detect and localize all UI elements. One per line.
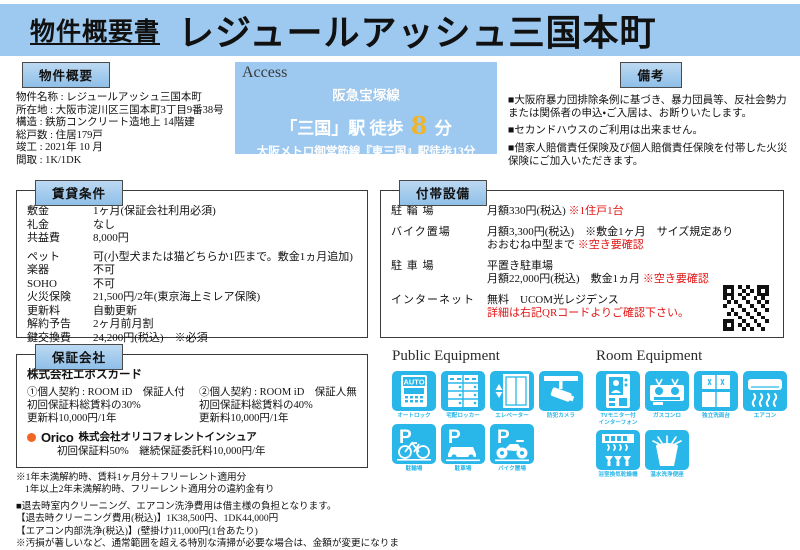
equipment-item: TVモニター付 インターフォン — [596, 371, 640, 426]
gas-stove-icon — [645, 371, 689, 411]
facility-note: ※空き要確認 — [643, 273, 709, 285]
facility-value: 月額330円(税込) ※1住戸1台 — [487, 205, 773, 219]
equipment-label: 宅配ロッカー — [441, 413, 485, 420]
header-tag: 物件概要書 — [30, 12, 160, 48]
facility-key: 駐 輪 場 — [391, 205, 487, 219]
public-equipment-section: Public Equipment AUTO — [392, 348, 588, 472]
overview-line: 構造 : 鉄筋コンクリート造地上 14階建 — [16, 117, 231, 130]
remark-item: ■大阪府暴力団排除条例に基づき、暴力団員等、反社会勢力または関係者の申込・ご入居… — [508, 94, 794, 120]
equipment-label: TVモニター付 インターフォン — [596, 413, 640, 426]
svg-text:P: P — [448, 427, 461, 448]
facility-line-2: おおむね中型まで ※空き要確認 — [487, 239, 773, 253]
facility-note: ※1住戸1台 — [569, 205, 624, 217]
rental-value: なし — [93, 219, 357, 233]
facilities-section: 付帯設備 駐 輪 場 月額330円(税込) ※1住戸1台 バイク置場 月額3,3… — [380, 190, 784, 338]
property-overview-label: 物件概要 — [22, 62, 110, 88]
rental-row: 敷金 1ヶ月(保証会社利用必須) — [27, 205, 357, 219]
page-header-banner: 物件概要書 レジュールアッシュ三国本町 — [0, 4, 800, 56]
equipment-item: P 駐車場 — [441, 424, 485, 473]
facility-line: 月額22,000円(税込) 敷金1ヵ月 — [487, 273, 640, 285]
note-line: ※汚損が著しいなど、通常範囲を超える特別な清掃が必要な場合は、金額が変更になりま… — [16, 538, 416, 550]
facility-row: バイク置場 月額3,300円(税込) ※敷金1ヶ月 サイズ規定あり おおむね中型… — [391, 226, 773, 253]
rental-value: 不可 — [93, 264, 357, 278]
equipment-item: AUTO オートロック — [392, 371, 436, 420]
equipment-item: エアコン — [743, 371, 787, 426]
plan-line: 初回保証料総賃料の40% — [199, 399, 357, 412]
plan-title: ②個人契約 : ROOM iD 保証人無 — [199, 386, 357, 399]
svg-text:AUTO: AUTO — [403, 378, 424, 387]
facilities-body: 駐 輪 場 月額330円(税込) ※1住戸1台 バイク置場 月額3,300円(税… — [381, 191, 783, 334]
remark-item: ■借家人賠償責任保険及び個人賠償責任保険を付帯した火災保険にご加入いただきます。 — [508, 142, 794, 168]
equipment-label: 温水洗浄便座 — [645, 472, 689, 479]
rental-key: 共益費 — [27, 232, 93, 246]
access-secondary-line: 大阪メトロ御堂筋線『東三国』駅徒歩13分 — [235, 143, 497, 159]
overview-line: 所在地 : 大阪市淀川区三国本町3丁目9番38号 — [16, 105, 231, 118]
remarks-lines: ■大阪府暴力団排除条例に基づき、暴力団員等、反社会勢力または関係者の申込・ご入居… — [508, 94, 794, 168]
property-overview-section: 物件概要 物件名称 : レジュールアッシュ三国本町 所在地 : 大阪市淀川区三国… — [16, 62, 231, 168]
rental-row: ペット 可(小型犬または猫どちらか1匹まで。敷金1ヵ月追加) — [27, 251, 357, 265]
facilities-label: 付帯設備 — [399, 180, 487, 206]
equipment-label: エアコン — [743, 413, 787, 420]
rental-row: SOHO 不可 — [27, 278, 357, 292]
rental-row: 楽器 不可 — [27, 264, 357, 278]
facility-line: おおむね中型まで — [487, 239, 575, 251]
rental-conditions-section: 賃貸条件 敷金 1ヶ月(保証会社利用必須) 礼金 なし 共益費 8,000円 ペ… — [16, 190, 368, 338]
equipment-item: ガスコンロ — [645, 371, 689, 426]
rental-key: 鍵交換費 — [27, 332, 93, 346]
note-line: ■退去時室内クリーニング、エアコン洗浄費用は借主様の負担となります。 — [16, 501, 416, 513]
facility-value: 平置き駐車場 月額22,000円(税込) 敷金1ヵ月 ※空き要確認 — [487, 260, 773, 287]
equipment-label: エレベーター — [490, 413, 534, 420]
room-equipment-icons: TVモニター付 インターフォン — [596, 371, 792, 479]
overview-line: 物件名称 : レジュールアッシュ三国本町 — [16, 92, 231, 105]
equipment-label: 浴室換気乾燥機 — [596, 472, 640, 479]
rental-key: SOHO — [27, 278, 93, 292]
equipment-label: 駐輪場 — [392, 466, 436, 473]
bike-parking-icon: P — [490, 424, 534, 464]
equipment-item: 温水洗浄便座 — [645, 430, 689, 479]
rental-key: 更新料 — [27, 305, 93, 319]
page-title: レジュールアッシュ三国本町 — [178, 4, 656, 56]
guarantee-company-label: 保証会社 — [35, 344, 123, 370]
note-line: 1年以上2年未満解約時、フリーレント適用分の違約金有り — [16, 484, 416, 496]
property-summary-sheet: 物件概要書 レジュールアッシュ三国本町 物件概要 物件名称 : レジュールアッシ… — [0, 0, 800, 550]
guarantee-plan: ①個人契約 : ROOM iD 保証人付 初回保証料総賃料の30% 更新料10,… — [27, 386, 185, 425]
rental-value: 1ヶ月(保証会社利用必須) — [93, 205, 357, 219]
equipment-label: オートロック — [392, 413, 436, 420]
equipment-item: エレベーター — [490, 371, 534, 420]
air-conditioner-icon — [743, 371, 787, 411]
svg-text:P: P — [497, 427, 510, 448]
facility-line: 月額330円(税込) — [487, 205, 566, 217]
room-equipment-section: Room Equipment T — [596, 348, 792, 479]
equipment-label: 防犯カメラ — [539, 413, 583, 420]
equipment-item: P 駐輪場 — [392, 424, 436, 473]
rental-value: 2ヶ月前月割 — [93, 318, 357, 332]
equipment-label: ガスコンロ — [645, 413, 689, 420]
equipment-label: 駐車場 — [441, 466, 485, 473]
qr-code[interactable] — [723, 285, 769, 331]
rental-conditions-body: 敷金 1ヶ月(保証会社利用必須) 礼金 なし 共益費 8,000円 ペット 可(… — [17, 191, 367, 351]
orico-company-name: 株式会社オリコフォレントインシュア — [78, 431, 256, 445]
facility-row: 駐 輪 場 月額330円(税込) ※1住戸1台 — [391, 205, 773, 219]
plan-line: 初回保証料総賃料の30% — [27, 399, 185, 412]
access-section: Access 阪急宝塚線 「三国」駅 徒歩 8 分 大阪メトロ御堂筋線『東三国』… — [235, 62, 497, 154]
remarks-label: 備考 — [620, 62, 681, 88]
equipment-label: バイク置場 — [490, 466, 534, 473]
equipment-label: 独立洗面台 — [694, 413, 738, 420]
facility-row: 駐 車 場 平置き駐車場 月額22,000円(税込) 敷金1ヵ月 ※空き要確認 — [391, 260, 773, 287]
facility-note: ※空き要確認 — [578, 239, 644, 251]
access-station-prefix: 「三国」駅 徒歩 — [280, 119, 403, 138]
remarks-section: 備考 ■大阪府暴力団排除条例に基づき、暴力団員等、反社会勢力または関係者の申込・… — [508, 62, 794, 172]
remark-item: ■セカンドハウスのご利用は出来ません。 — [508, 124, 794, 137]
note-line: ※1年未満解約時、賃料1ヶ月分＋フリーレント適用分 — [16, 472, 416, 484]
rental-value: 可(小型犬または猫どちらか1匹まで。敷金1ヵ月追加) — [93, 251, 357, 265]
equipment-item: 宅配ロッカー — [441, 371, 485, 420]
guarantee-plan: ②個人契約 : ROOM iD 保証人無 初回保証料総賃料の40% 更新料10,… — [199, 386, 357, 425]
rental-row: 礼金 なし — [27, 219, 357, 233]
orico-dot-icon — [27, 433, 36, 442]
rental-value: 不可 — [93, 278, 357, 292]
equipment-item: 独立洗面台 — [694, 371, 738, 426]
rental-row: 共益費 8,000円 — [27, 232, 357, 246]
room-equipment-title: Room Equipment — [596, 348, 792, 365]
public-equipment-icons: AUTO オートロック — [392, 371, 588, 472]
rental-row: 解約予告 2ヶ月前月割 — [27, 318, 357, 332]
tv-intercom-icon — [596, 371, 640, 411]
public-equipment-title: Public Equipment — [392, 348, 588, 365]
facility-row: インターネット 無料 UCOM光レジデンス 詳細は右記QRコードよりご確認下さい… — [391, 294, 773, 321]
bicycle-parking-icon: P — [392, 424, 436, 464]
guarantee-company-name: 株式会社エポスカード — [27, 369, 357, 383]
plan-title: ①個人契約 : ROOM iD 保証人付 — [27, 386, 185, 399]
facility-key: 駐 車 場 — [391, 260, 487, 287]
facility-line: 平置き駐車場 — [487, 260, 773, 274]
plan-line: 更新料10,000円/1年 — [199, 412, 357, 425]
rental-row: 鍵交換費 24,200円(税込) ※必須 — [27, 332, 357, 346]
facility-value: 月額3,300円(税込) ※敷金1ヶ月 サイズ規定あり おおむね中型まで ※空き… — [487, 226, 773, 253]
rental-value: 24,200円(税込) ※必須 — [93, 332, 357, 346]
rental-key: 火災保険 — [27, 291, 93, 305]
overview-line: 間取 : 1K/1DK — [16, 155, 231, 168]
rental-key: 解約予告 — [27, 318, 93, 332]
note-line: 【退去時クリーニング費用(税込)】1K38,500円、1DK44,000円 — [16, 513, 416, 525]
rental-key: 礼金 — [27, 219, 93, 233]
equipment-item: 防犯カメラ — [539, 371, 583, 420]
facility-key: インターネット — [391, 294, 487, 321]
orico-logo-row: Orico 株式会社オリコフォレントインシュア — [27, 431, 357, 445]
property-overview-lines: 物件名称 : レジュールアッシュ三国本町 所在地 : 大阪市淀川区三国本町3丁目… — [16, 92, 231, 168]
facility-line: 月額3,300円(税込) ※敷金1ヶ月 サイズ規定あり — [487, 226, 773, 240]
elevator-icon — [490, 371, 534, 411]
delivery-locker-icon — [441, 371, 485, 411]
equipment-item: 浴室換気乾燥機 — [596, 430, 640, 479]
washstand-icon — [694, 371, 738, 411]
car-parking-icon: P — [441, 424, 485, 464]
auto-lock-icon: AUTO — [392, 371, 436, 411]
equipment-item: P バイク置場 — [490, 424, 534, 473]
access-walk-minutes: 8 — [408, 111, 431, 140]
security-camera-icon — [539, 371, 583, 411]
orico-terms: 初回保証料50% 継続保証委託料10,000円/年 — [27, 445, 357, 459]
rental-conditions-label: 賃貸条件 — [35, 180, 123, 206]
access-label: Access — [242, 64, 287, 82]
plan-line: 更新料10,000円/1年 — [27, 412, 185, 425]
orico-brand: Orico — [41, 431, 73, 445]
rental-value: 自動更新 — [93, 305, 357, 319]
overview-line: 竣工 : 2021年 10 月 — [16, 142, 231, 155]
bottom-notes: ※1年未満解約時、賃料1ヶ月分＋フリーレント適用分 1年以上2年未満解約時、フリ… — [16, 472, 416, 550]
rental-key: 楽器 — [27, 264, 93, 278]
rental-row: 更新料 自動更新 — [27, 305, 357, 319]
overview-line: 総戸数 : 住居179戸 — [16, 130, 231, 143]
bath-dryer-icon — [596, 430, 640, 470]
note-line: 【エアコン内部洗浄(税込)】(壁掛け)11,000円(1台あたり) — [16, 526, 416, 538]
access-station-walk: 「三国」駅 徒歩 8 分 — [235, 111, 497, 140]
guarantee-plan-list: ①個人契約 : ROOM iD 保証人付 初回保証料総賃料の30% 更新料10,… — [27, 386, 357, 425]
rental-key: ペット — [27, 251, 93, 265]
rental-row: 火災保険 21,500円/2年(東京海上ミレア保険) — [27, 291, 357, 305]
guarantee-body: 株式会社エポスカード ①個人契約 : ROOM iD 保証人付 初回保証料総賃料… — [17, 355, 367, 465]
rental-value: 8,000円 — [93, 232, 357, 246]
rental-value: 21,500円/2年(東京海上ミレア保険) — [93, 291, 357, 305]
access-minutes-unit: 分 — [435, 119, 452, 138]
washlet-icon — [645, 430, 689, 470]
facility-key: バイク置場 — [391, 226, 487, 253]
guarantee-company-section: 保証会社 株式会社エポスカード ①個人契約 : ROOM iD 保証人付 初回保… — [16, 354, 368, 468]
rental-key: 敷金 — [27, 205, 93, 219]
